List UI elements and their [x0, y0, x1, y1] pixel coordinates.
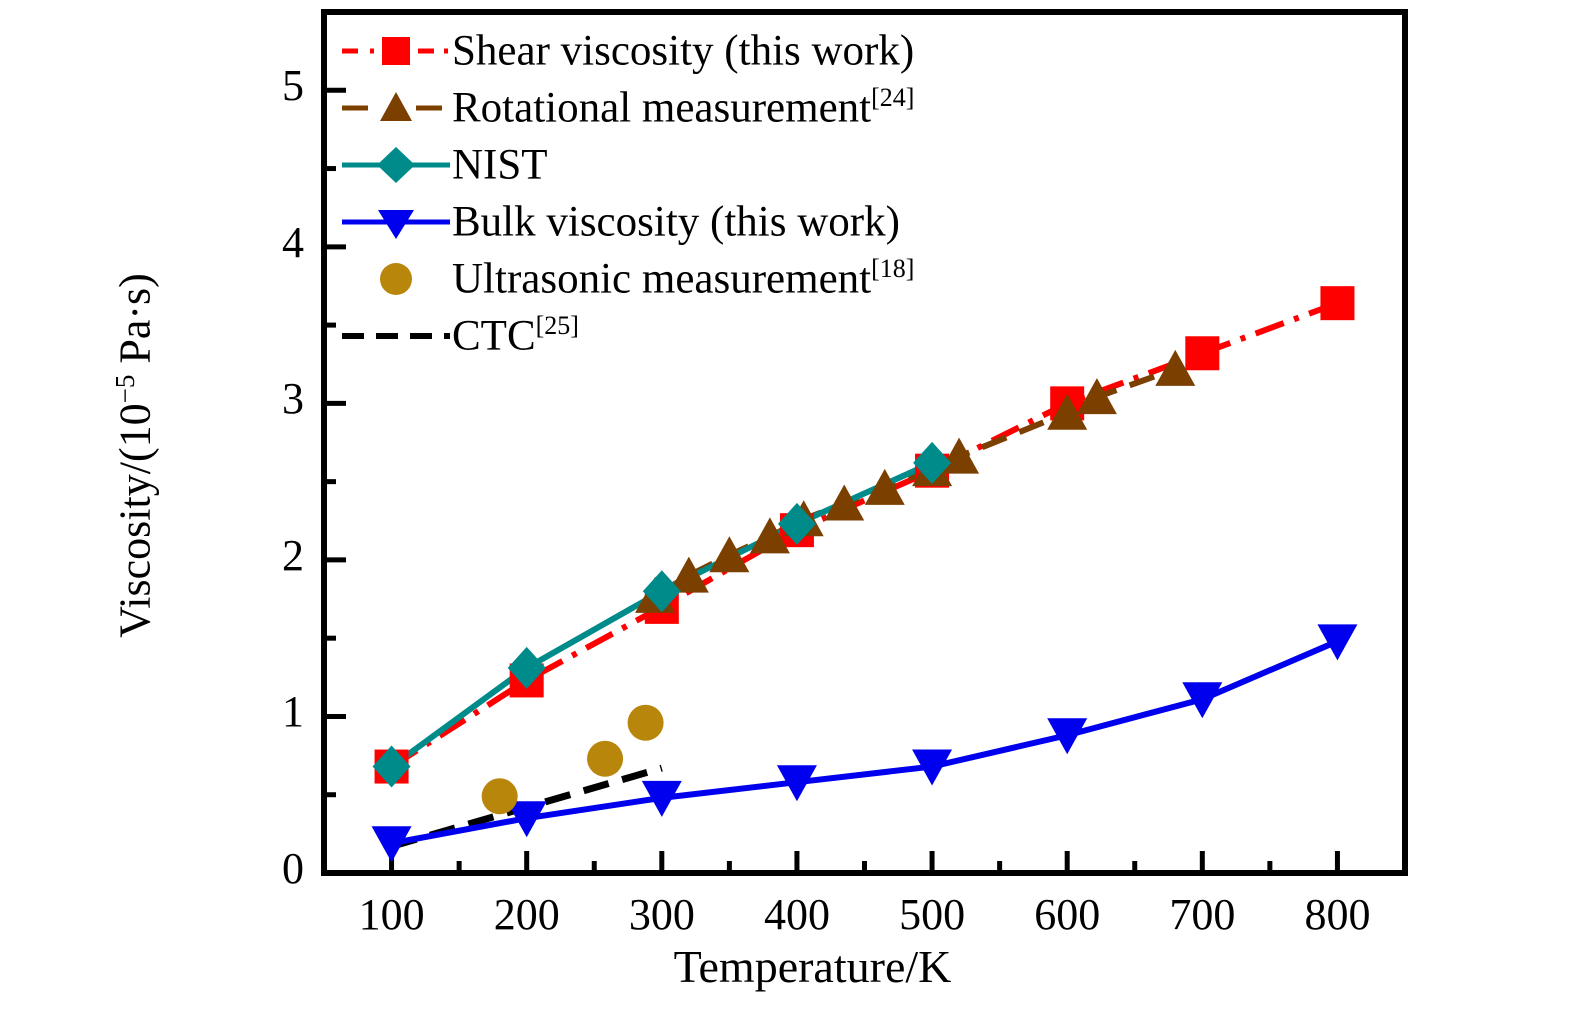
x-tick-label: 700: [1142, 889, 1262, 940]
x-tick-label: 200: [467, 889, 587, 940]
y-axis-label: Viscosity/(10−5 Pa·s): [110, 226, 161, 686]
y-tick-label: 2: [234, 530, 304, 581]
legend: Shear viscosity (this work) Rotational m…: [340, 22, 914, 364]
red-square-dashdot-key: [340, 31, 452, 71]
data-point-shear-viscosity-this-work: [1320, 286, 1354, 320]
legend-item-rotational-measurement[interactable]: Rotational measurement[24]: [340, 79, 914, 136]
legend-item-shear-viscosity[interactable]: Shear viscosity (this work): [340, 22, 914, 79]
legend-label-bulk-viscosity: Bulk viscosity (this work): [452, 199, 900, 243]
x-tick-label: 600: [1007, 889, 1127, 940]
data-point-ultrasonic-measurement: [628, 705, 664, 741]
y-tick-label: 0: [234, 843, 304, 894]
x-tick-label: 100: [332, 889, 452, 940]
legend-text: Ultrasonic measurement: [452, 256, 871, 303]
legend-sup: [18]: [871, 254, 914, 283]
legend-item-nist[interactable]: NIST: [340, 136, 914, 193]
y-tick-label: 5: [234, 60, 304, 111]
legend-label-ultrasonic-measurement: Ultrasonic measurement[18]: [452, 256, 914, 300]
data-point-bulk-viscosity-this-work: [1317, 624, 1357, 660]
legend-label-shear-viscosity: Shear viscosity (this work): [452, 28, 914, 72]
legend-label-rotational-measurement: Rotational measurement[24]: [452, 85, 914, 129]
x-tick-label: 400: [737, 889, 857, 940]
data-point-ultrasonic-measurement: [482, 778, 518, 814]
x-tick-label: 800: [1277, 889, 1397, 940]
legend-text: Bulk viscosity (this work): [452, 199, 900, 246]
data-point-shear-viscosity-this-work: [1185, 336, 1219, 370]
teal-diamond-solid-key: [340, 145, 452, 185]
black-dashed-line-key: [340, 316, 452, 356]
legend-text: Rotational measurement: [452, 85, 871, 132]
x-tick-label: 500: [872, 889, 992, 940]
legend-label-ctc: CTC[25]: [452, 313, 579, 357]
y-tick-label: 3: [234, 373, 304, 424]
legend-sup: [24]: [871, 83, 914, 112]
blue-triangle-down-solid-key: [340, 202, 452, 242]
legend-item-ultrasonic-measurement[interactable]: Ultrasonic measurement[18]: [340, 250, 914, 307]
figure-canvas: Viscosity/(10−5 Pa·s) Temperature/K Shea…: [0, 0, 1575, 1024]
legend-text: Shear viscosity (this work): [452, 28, 914, 75]
legend-item-bulk-viscosity[interactable]: Bulk viscosity (this work): [340, 193, 914, 250]
legend-text: NIST: [452, 142, 548, 189]
y-tick-label: 4: [234, 217, 304, 268]
data-point-rotational-measurement: [709, 536, 749, 572]
brown-triangle-dashed-key: [340, 88, 452, 128]
x-tick-label: 300: [602, 889, 722, 940]
goldenrod-circle-key: [340, 259, 452, 299]
x-axis-label-text: Temperature/K: [674, 940, 952, 993]
legend-sup: [25]: [536, 311, 579, 340]
legend-item-ctc[interactable]: CTC[25]: [340, 307, 914, 364]
legend-text: CTC: [452, 313, 536, 360]
data-point-ultrasonic-measurement: [587, 741, 623, 777]
legend-label-nist: NIST: [452, 142, 548, 186]
x-axis-label: Temperature/K: [0, 940, 1575, 993]
y-tick-label: 1: [234, 686, 304, 737]
